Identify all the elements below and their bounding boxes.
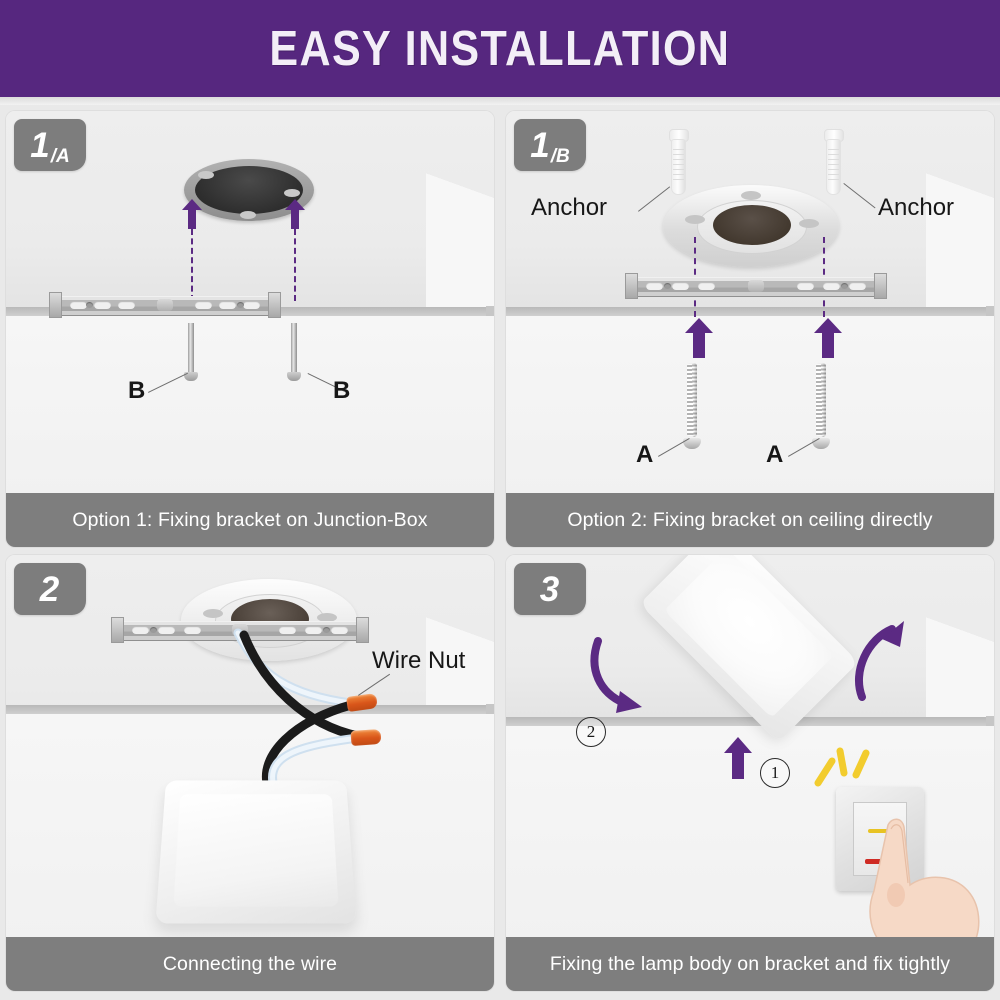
panel-caption-3: Fixing the lamp body on bracket and fix … bbox=[506, 937, 994, 991]
room-space bbox=[6, 316, 494, 493]
panel-step-1b: Anchor Anchor bbox=[506, 111, 994, 547]
direction-arrow-up-right bbox=[814, 318, 842, 358]
label-anchor-left: Anchor bbox=[531, 194, 607, 222]
page-title: EASY INSTALLATION bbox=[270, 21, 731, 77]
ceiling-edge bbox=[6, 705, 494, 714]
label-screw-b-right: B bbox=[333, 377, 350, 405]
label-anchor-right: Anchor bbox=[878, 194, 954, 222]
alignment-guide-left bbox=[191, 229, 193, 301]
step-badge-suffix bbox=[559, 610, 560, 615]
step-badge-number: 2 bbox=[40, 572, 59, 607]
rotate-arrow-right bbox=[846, 617, 916, 703]
step-badge-suffix bbox=[59, 610, 60, 615]
direction-arrow-up-center bbox=[724, 737, 752, 779]
direction-arrow-up-right bbox=[285, 199, 305, 229]
direction-arrow-up-left bbox=[685, 318, 713, 358]
rotate-arrow-left bbox=[586, 635, 656, 717]
mounting-bracket-2 bbox=[112, 617, 368, 643]
step-order-marker-1: 1 bbox=[760, 758, 790, 788]
panel-caption-2: Connecting the wire bbox=[6, 937, 494, 991]
header-banner: EASY INSTALLATION bbox=[0, 0, 1000, 97]
alignment-guide-right bbox=[294, 229, 296, 301]
ceiling-edge bbox=[506, 307, 994, 316]
step-badge-1b: 1 /B bbox=[514, 119, 586, 171]
hand-pressing-switch bbox=[858, 799, 988, 937]
machine-screw-b-right bbox=[287, 323, 301, 381]
step-badge-2: 2 bbox=[14, 563, 86, 615]
mounting-bracket-1b bbox=[626, 273, 886, 299]
label-screw-a-right: A bbox=[766, 441, 783, 469]
label-screw-a-left: A bbox=[636, 441, 653, 469]
label-screw-b-left: B bbox=[128, 377, 145, 405]
step-badge-number: 3 bbox=[540, 572, 559, 607]
wood-screw-a-right bbox=[813, 363, 829, 449]
panel-step-1a: B B 1 /A Option 1: Fixing bracket on Jun… bbox=[6, 111, 494, 547]
wall-anchor-right bbox=[824, 129, 844, 195]
mounting-bracket-1a bbox=[50, 292, 280, 318]
wire-nut-lower bbox=[351, 729, 382, 746]
installation-infographic: EASY INSTALLATION bbox=[0, 0, 1000, 1000]
direction-arrow-up-left bbox=[182, 199, 202, 229]
step-badge-suffix: /A bbox=[50, 147, 70, 171]
panel-step-2: Wire Nut 2 Connecting the wire bbox=[6, 555, 494, 991]
header-divider bbox=[0, 97, 1000, 105]
step-badge-suffix: /B bbox=[550, 147, 570, 171]
step-badge-3: 3 bbox=[514, 563, 586, 615]
room-space bbox=[506, 316, 994, 493]
panel-caption-1b: Option 2: Fixing bracket on ceiling dire… bbox=[506, 493, 994, 547]
step-badge-1a: 1 /A bbox=[14, 119, 86, 171]
wood-screw-a-left bbox=[684, 363, 700, 449]
step-badge-number: 1 bbox=[30, 128, 49, 163]
panel-grid: B B 1 /A Option 1: Fixing bracket on Jun… bbox=[0, 105, 1000, 1000]
square-led-panel bbox=[161, 773, 351, 933]
label-wire-nut: Wire Nut bbox=[372, 647, 465, 675]
wall-anchor-left bbox=[669, 129, 689, 195]
panel-step-3: 1 2 bbox=[506, 555, 994, 991]
step-order-marker-2: 2 bbox=[576, 717, 606, 747]
panel-caption-1a: Option 1: Fixing bracket on Junction-Box bbox=[6, 493, 494, 547]
step-badge-number: 1 bbox=[530, 128, 549, 163]
mounted-square-lamp bbox=[626, 555, 876, 727]
